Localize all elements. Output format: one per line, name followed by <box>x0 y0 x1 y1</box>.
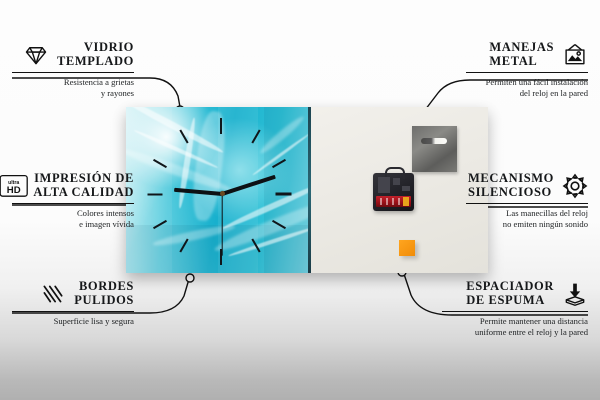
callout-title: MECANISMOSILENCIOSO <box>468 172 554 199</box>
callout-title: VIDRIOTEMPLADO <box>57 41 134 68</box>
callout-description: Superficie lisa y segura <box>12 316 134 327</box>
clock-glass-panel <box>126 107 309 273</box>
callout-title: MANEJASMETAL <box>489 41 554 68</box>
callout-rule <box>12 311 134 312</box>
foam-spacer-icon <box>562 281 588 307</box>
callout-mecanismo-silencioso: MECANISMOSILENCIOSO Las manecillas del r… <box>466 172 588 229</box>
callout-vidrio-templado: VIDRIOTEMPLADO Resistencia a grietas y r… <box>12 41 134 98</box>
clock-second-hand <box>221 194 222 256</box>
svg-text:HD: HD <box>7 185 21 196</box>
callout-rule <box>12 203 134 204</box>
callout-description: Las manecillas del reloj no emiten ningú… <box>466 208 588 229</box>
callout-rule <box>466 203 588 204</box>
battery-terminal <box>403 197 409 206</box>
callout-title: ESPACIADORDE ESPUMA <box>466 280 554 307</box>
hanger-plate <box>412 126 457 172</box>
polished-edges-icon <box>40 281 66 307</box>
callout-description: Colores intensos e imagen vívida <box>12 208 134 229</box>
diamond-icon <box>23 42 49 68</box>
connector-dot-3 <box>186 274 194 282</box>
callout-title: IMPRESIÓN DEALTA CALIDAD <box>33 172 134 199</box>
infographic-canvas: VIDRIOTEMPLADO Resistencia a grietas y r… <box>0 0 600 400</box>
clock-mechanism <box>373 173 414 211</box>
callout-rule <box>442 311 588 312</box>
callout-manejas-metal: MANEJASMETAL Permiten una fácil instalac… <box>466 41 588 98</box>
clock-back-panel <box>311 107 488 273</box>
ultra-hd-icon: ultra HD <box>0 173 25 199</box>
hanger-slot <box>421 138 447 144</box>
callout-impresion-alta-calidad: ultra HD IMPRESIÓN DEALTA CALIDAD Colore… <box>12 172 134 229</box>
callout-rule <box>12 72 134 73</box>
product-photo <box>126 107 488 273</box>
callout-description: Permiten una fácil instalación del reloj… <box>466 77 588 98</box>
gear-icon <box>562 173 588 199</box>
clock-center-hub <box>220 191 225 196</box>
callout-espaciador-espuma: ESPACIADORDE ESPUMA Permite mantener una… <box>442 280 588 337</box>
foam-spacer-pad <box>399 240 415 256</box>
clock-tick <box>220 118 222 134</box>
callout-title: BORDESPULIDOS <box>74 280 134 307</box>
battery <box>376 196 411 207</box>
callout-description: Permite mantener una distancia uniforme … <box>442 316 588 337</box>
callout-rule <box>466 72 588 73</box>
callout-description: Resistencia a grietas y rayones <box>12 77 134 98</box>
clock-tick <box>148 194 163 196</box>
clock-tick <box>276 193 292 196</box>
callout-bordes-pulidos: BORDESPULIDOS Superficie lisa y segura <box>12 280 134 327</box>
wall-hanger-icon <box>562 42 588 68</box>
